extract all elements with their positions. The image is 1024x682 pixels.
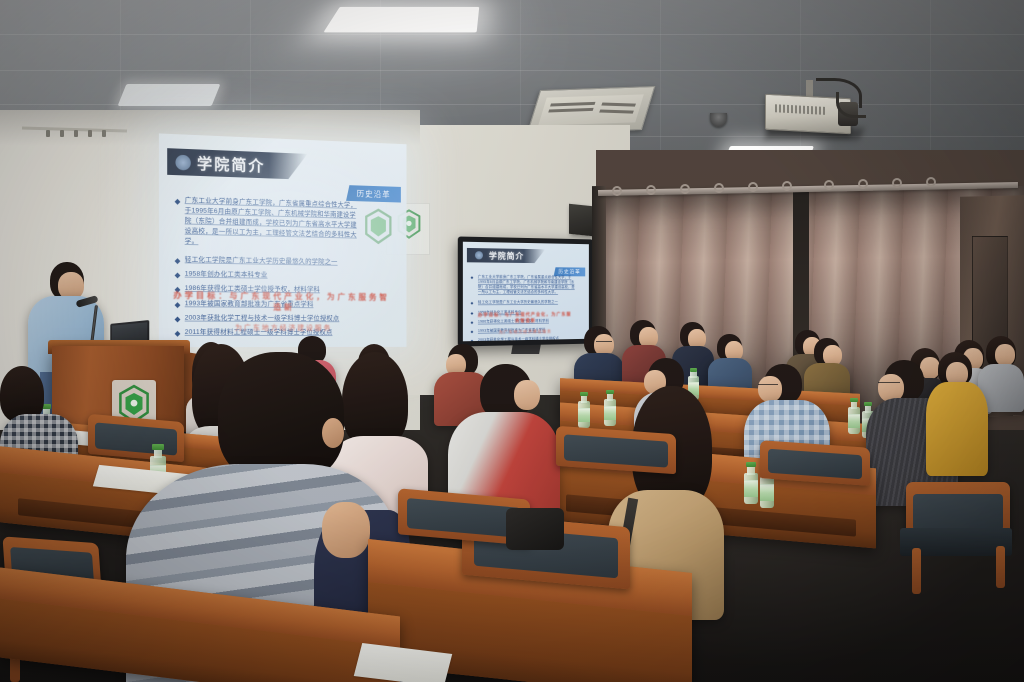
water-bottle: [848, 398, 860, 434]
lcd-slide-title-banner: 学院简介: [467, 248, 545, 263]
lcd-footer-slogan: 办学目标：与广东现代产业化，为广东服务智造新: [477, 312, 572, 325]
glasses-icon: [878, 382, 900, 385]
water-bottle: [744, 462, 758, 504]
chair-leg: [912, 548, 921, 594]
ceiling-light-panel: [323, 7, 479, 32]
glasses-icon: [596, 341, 612, 344]
slide-bullet: 轻工化工学院是广东工业大学历史最悠久的学院之一: [175, 255, 357, 268]
lcd-slide-title: 学院简介: [489, 250, 524, 262]
slide-footer-subslogan: 为广东地方经济建设服务: [173, 323, 389, 334]
slide-bullet: 1958年创办化工类本科专业: [175, 270, 357, 283]
lcd-slide-logo-badge: [475, 251, 483, 259]
slide-bullet-list: 广东工业大学前身广东工学院，广东省属重点综合性大学，于1995年6月由原广东工学…: [175, 196, 357, 342]
slide-bullet-text: 轻工化工学院是广东工业大学历史最悠久的学院之一: [185, 255, 338, 268]
chair: [556, 426, 676, 474]
lcd-bullet-text: 广东工业大学前身广东工学院，广东省属重点综合性大学，于1995年6月由原广东工学…: [478, 275, 576, 296]
lcd-bullet-text: 轻工化工学院是广东工业大学历史最悠久的学院之一: [478, 300, 558, 306]
slide-section-tag: 历史沿革: [346, 185, 401, 202]
slide-footer-slogan: 办学目标：与广东现代产业化，为广东服务智造新: [173, 290, 389, 314]
audience-member-mustard: [926, 352, 988, 472]
lcd-screen-content: 学院简介 历史沿革 广东工业大学前身广东工学院，广东省属重点综合性大学，于199…: [463, 242, 589, 342]
hand: [322, 502, 370, 558]
water-bottle: [578, 392, 590, 428]
slide-crest-icon: [363, 207, 393, 245]
lcd-bullet-text: 2003年获批化学工程与技术一级学科博士学位授权点: [478, 336, 559, 341]
lecture-hall-photo: 学院简介 历史沿革 广东工业大学前身广东工学院，广东省属重点综合性大学，于199…: [0, 0, 1024, 682]
projection-screen: 学院简介 历史沿革 广东工业大学前身广东工学院，广东省属重点综合性大学，于199…: [159, 133, 407, 347]
ear: [322, 418, 344, 448]
monitor-mount: [511, 344, 541, 354]
face: [995, 344, 1015, 366]
slide-bullet: 广东工业大学前身广东工学院，广东省属重点综合性大学，于1995年6月由原广东工学…: [175, 196, 357, 251]
chair-leg: [996, 546, 1005, 588]
chair: [760, 440, 870, 486]
ceiling-light-panel: [118, 84, 221, 106]
slide-logo-badge: [175, 154, 190, 170]
wall-loudspeaker: [569, 204, 593, 237]
slide-title-banner: 学院简介: [167, 148, 307, 180]
torso: [926, 382, 988, 476]
slide-bullet-text: 1958年创办化工类本科专业: [185, 270, 268, 281]
head: [218, 352, 344, 482]
presentation-slide: 学院简介 历史沿革 广东工业大学前身广东工学院，广东省属重点综合性大学，于199…: [159, 133, 407, 347]
face: [758, 376, 782, 402]
glasses-icon: [758, 384, 778, 387]
face: [514, 380, 540, 410]
slide-title: 学院简介: [197, 152, 265, 176]
bag: [506, 508, 564, 550]
slide-bullet-text: 广东工业大学前身广东工学院，广东省属重点综合性大学，于1995年6月由原广东工学…: [185, 196, 358, 251]
